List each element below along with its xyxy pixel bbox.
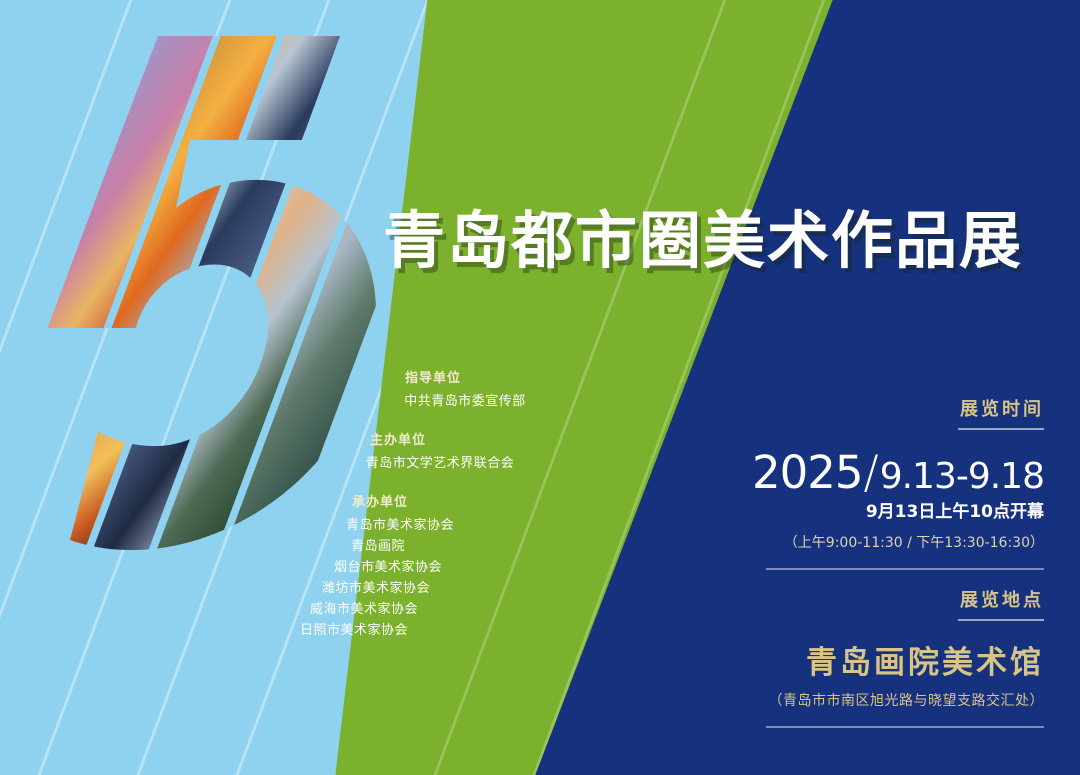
- credit-line-undertaker-2: 烟台市美术家协会: [238, 557, 538, 578]
- credit-line-undertaker-5: 日照市美术家协会: [204, 620, 504, 641]
- credit-line-undertaker-0: 青岛市美术家协会: [250, 515, 550, 536]
- page-title: 青岛都市圈美术作品展: [383, 190, 1023, 280]
- venue-address: （青岛市市南区旭光路与晓望支路交汇处）: [766, 690, 1044, 710]
- opening-hours: （上午9:00-11:30 / 下午13:30-16:30）: [766, 532, 1044, 552]
- exhibition-place-label: 展览地点: [766, 586, 1044, 612]
- credit-line-undertaker-4: 威海市美术家协会: [214, 599, 514, 620]
- opening-note: 9月13日上午10点开幕: [766, 497, 1044, 522]
- divider-between-sections: [766, 568, 1044, 570]
- credit-line-organizer-0: 青岛市文学艺术界联合会: [290, 453, 590, 474]
- credit-header-undertaker: 承办单位: [230, 492, 530, 513]
- exhibition-date-row: 2025 / 9.13-9.18: [766, 450, 1044, 495]
- exhibition-time-label: 展览时间: [766, 395, 1044, 421]
- divider-bottom: [766, 726, 1044, 728]
- credit-header-organizer: 主办单位: [248, 430, 548, 451]
- date-separator-slash: /: [864, 450, 879, 495]
- credits-block: 指导单位 中共青岛市委宣传部 主办单位 青岛市文学艺术界联合会 承办单位 青岛市…: [260, 368, 560, 660]
- credit-header-guidance: 指导单位: [283, 368, 583, 389]
- poster-canvas: 青岛都市圈美术作品展 指导单位 中共青岛市委宣传部 主办单位 青岛市文学艺术界联…: [0, 0, 1080, 775]
- credit-line-undertaker-1: 青岛画院: [228, 536, 528, 557]
- credit-group-organizer: 主办单位 青岛市文学艺术界联合会: [290, 430, 590, 474]
- divider-under-time-label: [958, 428, 1044, 430]
- credit-line-guidance-0: 中共青岛市委宣传部: [315, 391, 615, 412]
- exhibition-year: 2025: [752, 450, 863, 495]
- venue-name: 青岛画院美术馆: [766, 637, 1044, 682]
- divider-under-place-label: [958, 619, 1044, 621]
- credit-line-undertaker-3: 潍坊市美术家协会: [226, 578, 526, 599]
- exhibition-info-panel: 展览时间 2025 / 9.13-9.18 9月13日上午10点开幕 （上午9:…: [766, 395, 1044, 728]
- credit-group-undertaker: 承办单位 青岛市美术家协会 青岛画院 烟台市美术家协会 潍坊市美术家协会 威海市…: [260, 492, 560, 641]
- credit-group-guidance: 指导单位 中共青岛市委宣传部: [315, 368, 615, 412]
- exhibition-date-range: 9.13-9.18: [880, 459, 1044, 495]
